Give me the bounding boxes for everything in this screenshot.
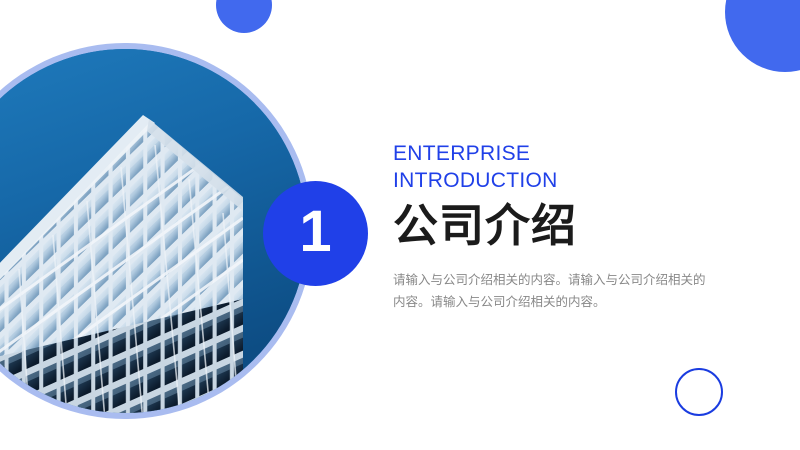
decorative-circle-top-right <box>725 0 800 72</box>
body-paragraph: 请输入与公司介绍相关的内容。请输入与公司介绍相关的内容。请输入与公司介绍相关的内… <box>393 269 715 313</box>
text-block: ENTERPRISE INTRODUCTION 公司介绍 请输入与公司介绍相关的… <box>393 140 723 313</box>
decorative-circle-top <box>216 0 272 33</box>
section-number-badge: 1 <box>263 181 368 286</box>
slide-canvas: 1 ENTERPRISE INTRODUCTION 公司介绍 请输入与公司介绍相… <box>0 0 800 450</box>
eyebrow-heading: ENTERPRISE INTRODUCTION <box>393 140 723 194</box>
page-title: 公司介绍 <box>393 199 723 253</box>
decorative-ring-bottom-right <box>675 368 723 416</box>
section-number-label: 1 <box>299 203 331 264</box>
